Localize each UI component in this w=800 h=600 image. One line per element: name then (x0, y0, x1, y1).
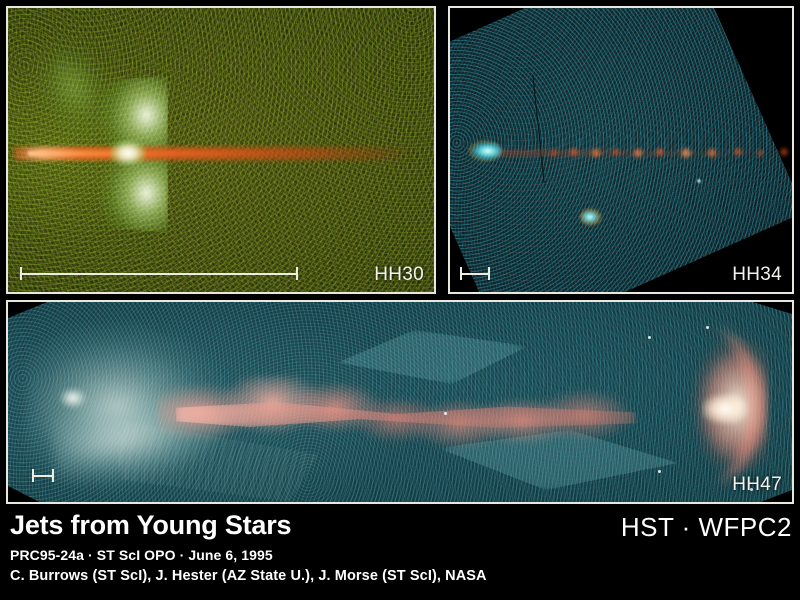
hh47-field-clip (8, 302, 792, 502)
hh34-field-star (580, 208, 602, 226)
hh30-scale-bar (20, 267, 298, 280)
poster-root: HH30 HH34 (0, 0, 800, 600)
hh34-faint-star (696, 178, 702, 184)
hh47-star-1 (648, 336, 651, 339)
caption-block: Jets from Young Stars HST · WFPC2 PRC95-… (0, 506, 800, 600)
scale-bar-cap-right (488, 267, 490, 280)
panel-hh34: HH34 (448, 6, 794, 294)
scale-bar-cap-right (52, 469, 54, 482)
hh47-image: HH47 (8, 302, 792, 502)
hh30-reflection-lobe-upper (48, 76, 168, 154)
page-title: Jets from Young Stars (10, 510, 291, 541)
hh30-protostar-core (110, 140, 146, 166)
hh47-bow-shock-core (702, 394, 748, 424)
instrument-label: HST · WFPC2 (621, 512, 792, 543)
hh30-jet-core (28, 151, 358, 156)
panel-hh47: HH47 (6, 300, 794, 504)
hh34-scale-bar (460, 267, 490, 280)
hh47-star-3 (444, 412, 447, 415)
hh30-reflection-lobe-lower (48, 154, 168, 232)
hh34-source-star (468, 140, 502, 162)
scale-bar-rule (32, 475, 54, 477)
scale-bar-rule (20, 273, 298, 275)
credit-line: C. Burrows (ST ScI), J. Hester (AZ State… (10, 568, 487, 584)
scale-bar-cap-right (296, 267, 298, 280)
release-line: PRC95-24a · ST ScI OPO · June 6, 1995 (10, 547, 273, 563)
hh30-object-label: HH30 (374, 264, 424, 286)
hh47-star-4 (658, 470, 661, 473)
hh34-image: HH34 (450, 8, 792, 292)
hh34-object-label: HH34 (732, 264, 782, 286)
hh47-source-star (60, 388, 86, 408)
hh47-star-2 (706, 326, 709, 329)
scale-bar-rule (460, 273, 490, 275)
panel-hh30: HH30 (6, 6, 436, 294)
hh47-object-label: HH47 (732, 474, 782, 496)
hh34-jet-knots (546, 145, 792, 161)
hh30-image: HH30 (8, 8, 434, 292)
hh47-scale-bar (32, 469, 54, 482)
